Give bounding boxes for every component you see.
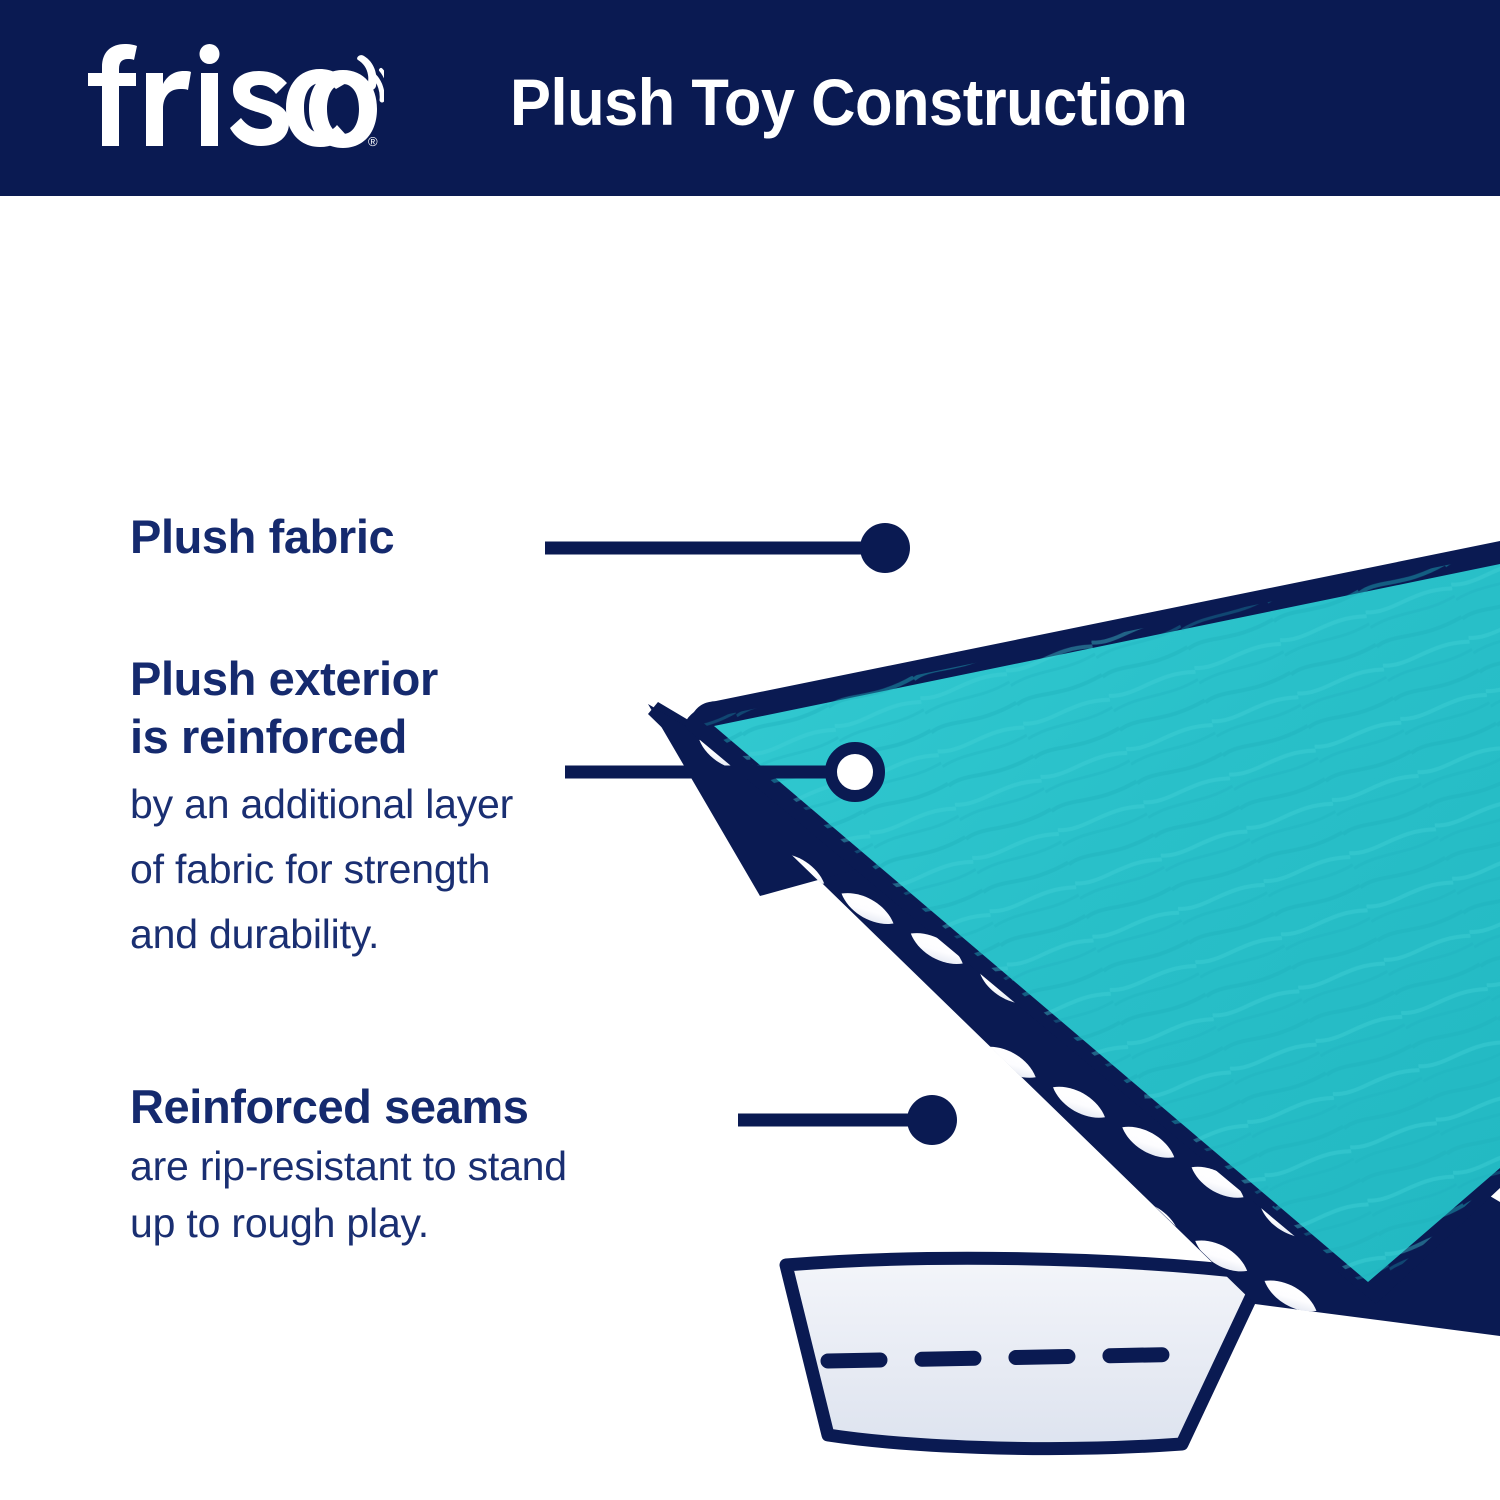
callout-plush-exterior-body-line3: and durability. — [130, 908, 513, 961]
marker-dot-reinforced-seams — [907, 1095, 957, 1145]
leader-reinforced-seams — [738, 1095, 957, 1145]
callout-plush-fabric-heading: Plush fabric — [130, 508, 394, 566]
marker-ring-plush-exterior — [831, 748, 879, 796]
marker-dot-plush-fabric — [860, 523, 910, 573]
callout-reinforced-seams-heading: Reinforced seams — [130, 1078, 567, 1136]
reinforced-seam-flap — [786, 1258, 1262, 1448]
callout-plush-exterior-body-line2: of fabric for strength — [130, 843, 513, 896]
callout-reinforced-seams: Reinforced seams are rip-resistant to st… — [130, 1078, 567, 1250]
page-title: Plush Toy Construction — [510, 50, 1187, 154]
infographic-page: ® Plush Toy Construction — [0, 0, 1500, 1500]
callout-plush-exterior-heading-line2: is reinforced — [130, 708, 513, 766]
callout-plush-fabric: Plush fabric — [130, 508, 394, 566]
seam-stitch-line — [828, 1354, 1200, 1361]
callout-plush-exterior-heading-line1: Plush exterior — [130, 650, 513, 708]
header-bar: ® Plush Toy Construction — [0, 0, 1500, 196]
leader-plush-fabric — [545, 523, 910, 573]
plush-fabric-panel — [686, 536, 1500, 1316]
registered-trademark-symbol: ® — [368, 134, 378, 149]
frisco-logo: ® — [84, 42, 384, 152]
callout-reinforced-seams-body-line1: are rip-resistant to stand — [130, 1140, 567, 1193]
callout-reinforced-seams-body-line2: up to rough play. — [130, 1197, 567, 1250]
callout-plush-exterior-body-line1: by an additional layer — [130, 778, 513, 831]
callout-plush-exterior: Plush exterior is reinforced by an addit… — [130, 650, 513, 961]
